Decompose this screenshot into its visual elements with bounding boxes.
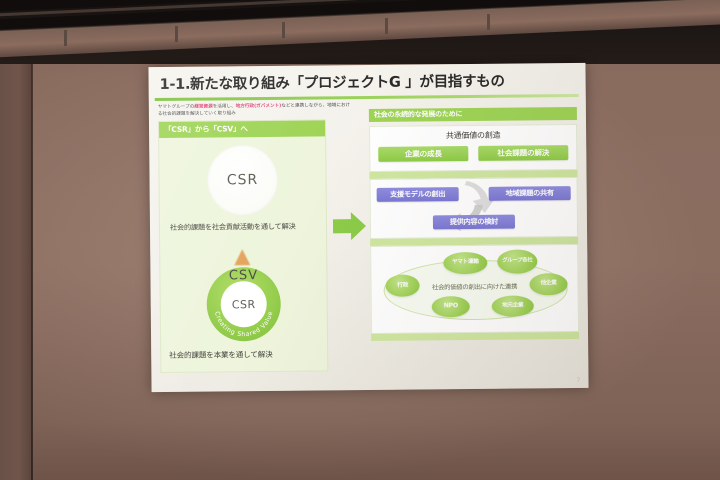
lead-paragraph: ヤマトグループの経営資源を活用し、地方行政(ガバメント)などと連携しながら、地域… xyxy=(158,103,354,119)
left-caption-bottom: 社会的課題を本業を通して解決 xyxy=(169,348,321,360)
box-corporate-growth: 企業の成長 xyxy=(378,146,468,162)
slide-page-number: 7 xyxy=(577,377,581,384)
box-service-content-review: 提供内容の検討 xyxy=(433,215,515,230)
box-support-model-creation: 支援モデルの創出 xyxy=(377,187,459,202)
csv-ring: CSV CSR Creating Shared Value xyxy=(206,267,281,342)
section-support-model: 支援モデルの創出 地域課題の共有 提供内容の検討 xyxy=(370,177,579,239)
box-social-issue-solution: 社会課題の解決 xyxy=(478,145,568,161)
csr-circle: CSR xyxy=(207,145,278,216)
page-title: 1-1.新たな取り組み「プロジェクトG 」が目指すもの xyxy=(154,68,578,98)
network-center-text: 社会的価値の創出に向けた連携 xyxy=(392,281,558,292)
svg-text:Creating Shared Value: Creating Shared Value xyxy=(213,310,275,338)
csv-arc-text: Creating Shared Value xyxy=(206,267,281,342)
left-panel-header-label: 「CSR」から「CSV」へ xyxy=(159,120,325,138)
ceiling-beam-1 xyxy=(64,30,67,46)
slide-title-row: 1-1.新たな取り組み「プロジェクトG 」が目指すもの xyxy=(154,68,578,98)
wall-corner-edge-line xyxy=(31,40,33,480)
photo-scene: 1-1.新たな取り組み「プロジェクトG 」が目指すもの ヤマトグループの経営資源… xyxy=(0,0,720,480)
ceiling-beam-4 xyxy=(385,18,388,34)
ceiling-beam-3 xyxy=(282,22,285,38)
presentation-slide: 1-1.新たな取り組み「プロジェクトG 」が目指すもの ヤマトグループの経営資源… xyxy=(148,63,588,392)
section-common-value-heading: 共通価値の創造 xyxy=(370,129,576,142)
ceiling-beam-5 xyxy=(487,14,490,30)
section-common-value: 共通価値の創造 企業の成長 社会課題の解決 xyxy=(369,124,577,172)
csr-circle-label: CSR xyxy=(227,172,259,188)
upward-arrow-icon xyxy=(234,249,250,265)
right-panel-sustainable-growth: 社会の永続的な発展のために 共通価値の創造 企業の成長 社会課題の解決 支援モデ… xyxy=(369,107,580,371)
section-collaboration-network: ヤマト運輸 グループ各社 行政 他企業 NPO 地元企業 社会的価値の創出に向け… xyxy=(370,244,579,334)
right-arrow-icon xyxy=(333,211,367,241)
box-regional-issue-sharing: 地域課題の共有 xyxy=(489,186,571,201)
left-panel-header: 「CSR」から「CSV」へ xyxy=(159,120,325,138)
wall-corner-left xyxy=(0,0,32,480)
right-panel-header: 社会の永続的な発展のために xyxy=(369,107,577,122)
right-panel-header-label: 社会の永続的な発展のために xyxy=(369,107,577,122)
ceiling-beam-2 xyxy=(175,26,178,42)
left-panel-csr-to-csv: 「CSR」から「CSV」へ CSR 社会的課題を社会貢献活動を通して解決 CSV… xyxy=(158,119,328,373)
left-caption-top: 社会的課題を社会貢献活動を通して解決 xyxy=(170,220,320,233)
divider-band-3 xyxy=(371,332,579,341)
